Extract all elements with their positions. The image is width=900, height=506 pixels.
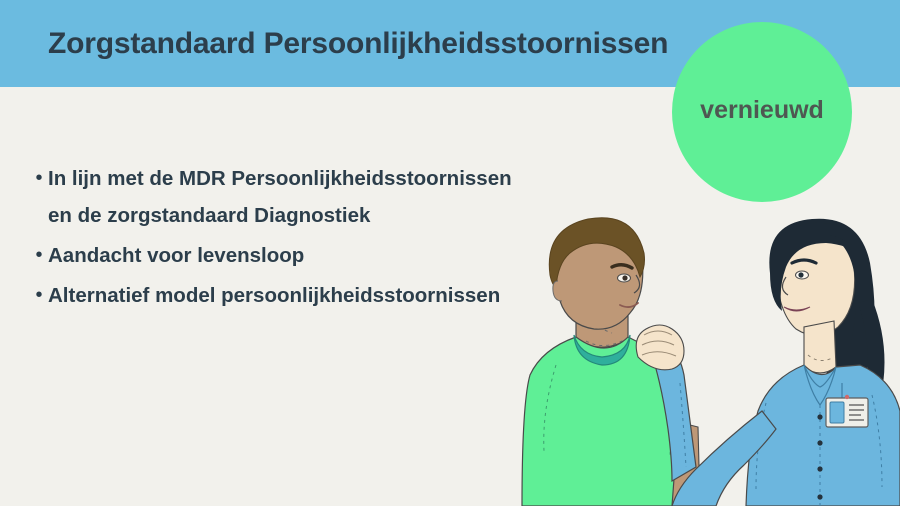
list-item: • Aandacht voor levensloop — [30, 237, 630, 274]
vernieuwd-badge-label: vernieuwd — [700, 96, 824, 125]
page-title: Zorgstandaard Persoonlijkheidsstoornisse… — [48, 27, 668, 61]
slide-canvas: vernieuwd Zorgstandaard Persoonlijkheids… — [0, 0, 900, 506]
bullet-marker-icon: • — [30, 237, 48, 274]
list-item-label: Aandacht voor levensloop — [48, 237, 304, 274]
list-item: • Alternatief model persoonlijkheidsstoo… — [30, 277, 630, 314]
list-item-label: Alternatief model persoonlijkheidsstoorn… — [48, 277, 500, 314]
bullet-marker-icon: • — [30, 277, 48, 314]
bullet-list: • In lijn met de MDR Persoonlijkheidssto… — [30, 160, 630, 317]
bullet-marker-icon: • — [30, 160, 48, 197]
list-item: • In lijn met de MDR Persoonlijkheidssto… — [30, 160, 630, 234]
vernieuwd-badge: vernieuwd — [672, 22, 852, 202]
list-item-label: In lijn met de MDR Persoonlijkheidsstoor… — [48, 160, 512, 234]
